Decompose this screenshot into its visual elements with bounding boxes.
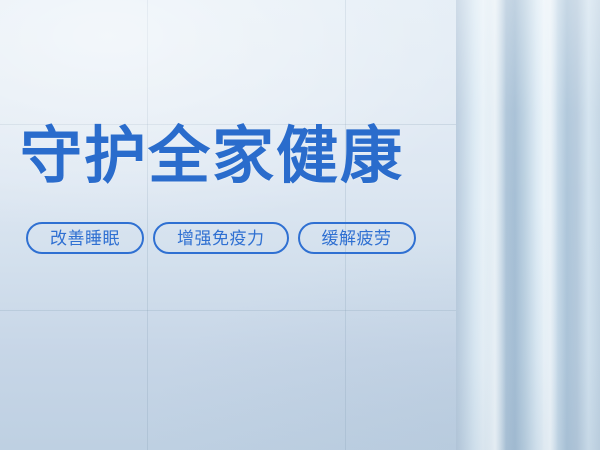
- column-highlight-2: [542, 0, 558, 450]
- health-promo-banner: 守护全家健康 改善睡眠 增强免疫力 缓解疲劳: [0, 0, 600, 450]
- column-shading: [456, 0, 600, 450]
- glass-column: [456, 0, 600, 450]
- benefit-pill-immunity[interactable]: 增强免疫力: [153, 222, 289, 254]
- benefit-pill-fatigue[interactable]: 缓解疲劳: [298, 222, 416, 254]
- benefit-pill-group: 改善睡眠 增强免疫力 缓解疲劳: [26, 222, 416, 254]
- benefit-pill-sleep[interactable]: 改善睡眠: [26, 222, 144, 254]
- banner-headline: 守护全家健康: [20, 124, 440, 190]
- column-highlight-1: [484, 0, 506, 450]
